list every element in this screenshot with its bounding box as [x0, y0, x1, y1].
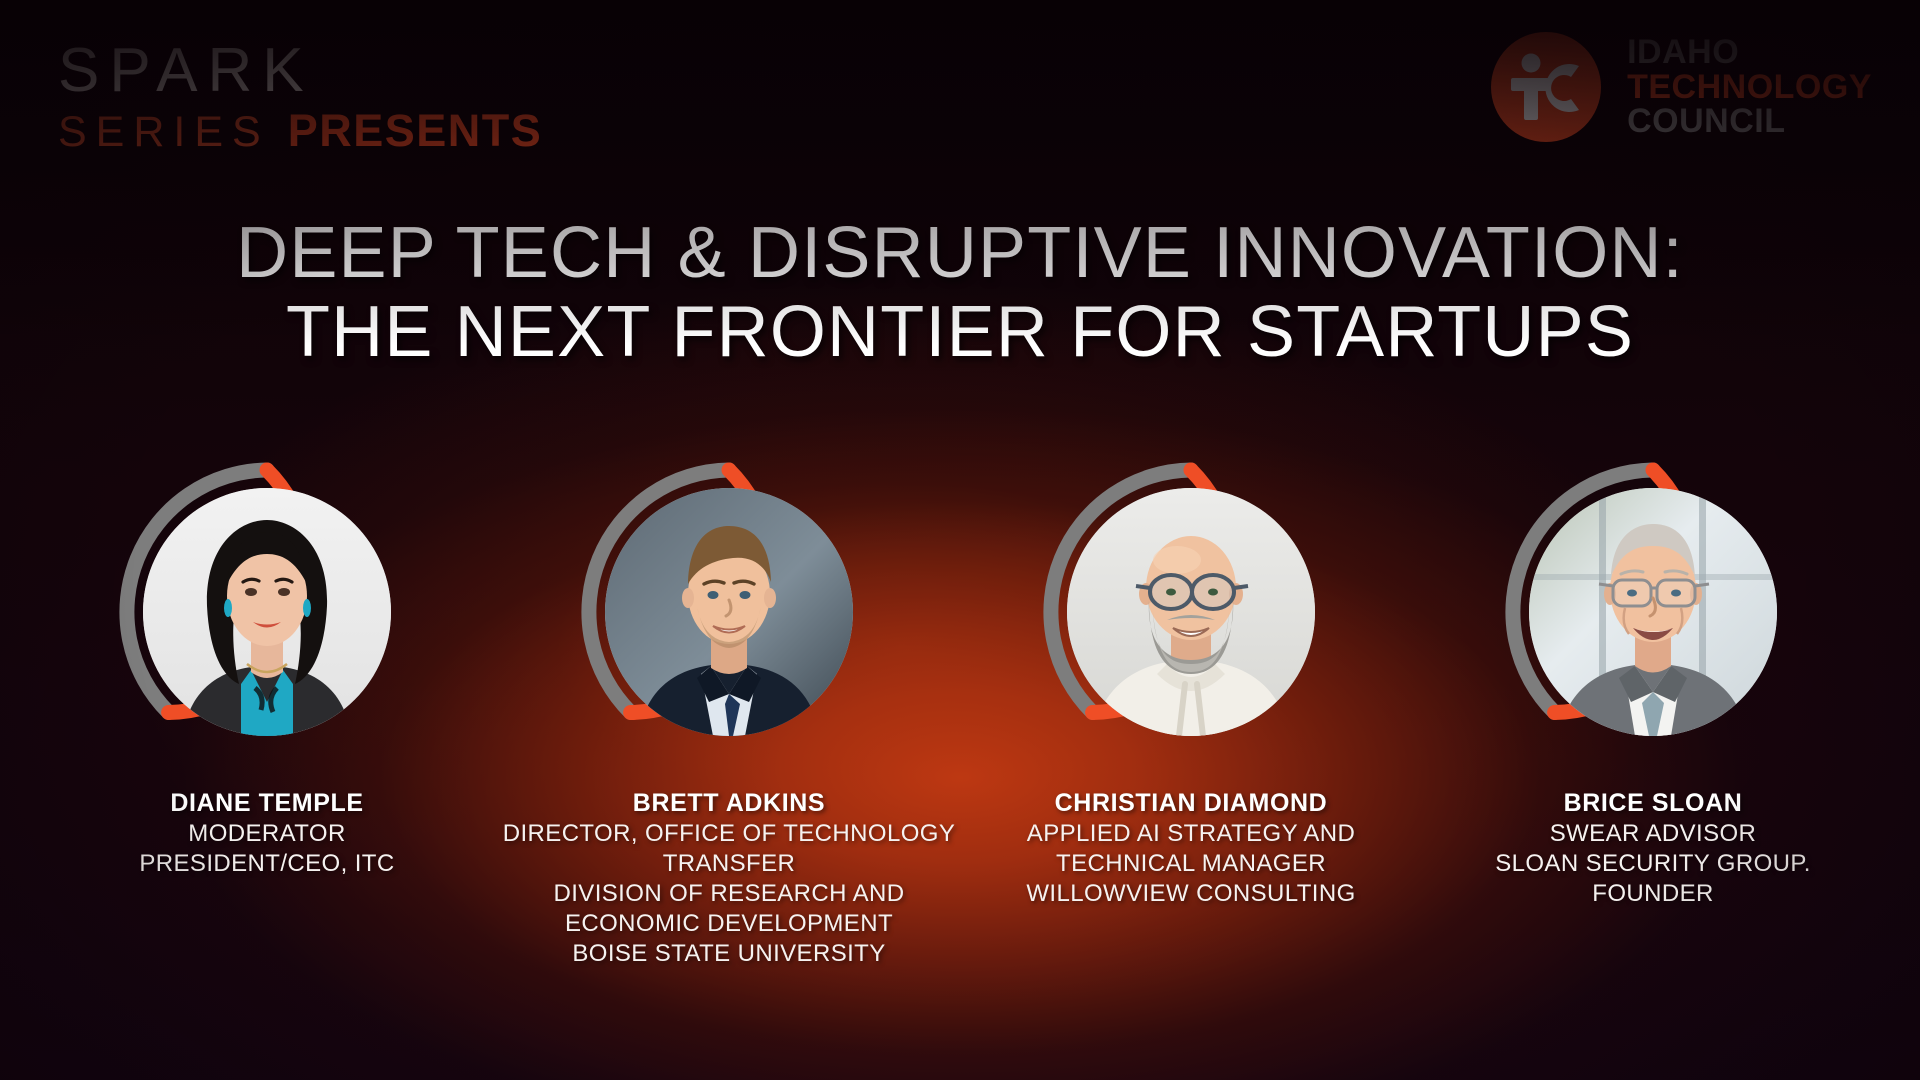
speaker-card: DIANE TEMPLE MODERATOR PRESIDENT/CEO, IT…	[67, 462, 467, 879]
speaker-photo	[605, 488, 853, 736]
speaker-detail-line: SWEAR ADVISOR	[1423, 819, 1883, 849]
title-line-1: DEEP TECH & DISRUPTIVE INNOVATION:	[0, 214, 1920, 293]
speaker-ring-frame	[1503, 462, 1803, 762]
speaker-detail-line: ECONOMIC DEVELOPMENT	[499, 909, 959, 939]
speaker-ring-frame	[579, 462, 879, 762]
page-title: DEEP TECH & DISRUPTIVE INNOVATION: THE N…	[0, 214, 1920, 372]
speaker-panel-list: DIANE TEMPLE MODERATOR PRESIDENT/CEO, IT…	[0, 462, 1920, 969]
itc-line-idaho: IDAHO	[1627, 35, 1872, 70]
speaker-info: CHRISTIAN DIAMOND APPLIED AI STRATEGY AN…	[961, 788, 1421, 909]
speaker-detail-line: APPLIED AI STRATEGY AND	[961, 819, 1421, 849]
itc-wordmark: IDAHO TECHNOLOGY COUNCIL	[1627, 35, 1872, 139]
speaker-info: BRICE SLOAN SWEAR ADVISOR SLOAN SECURITY…	[1423, 788, 1883, 909]
spark-subline: SERIES PRESENTS	[58, 108, 542, 154]
presentation-slide: SPARK SERIES PRESENTS IDAHO TECHNOLOGY C…	[0, 0, 1920, 1080]
speaker-name: BRETT ADKINS	[499, 788, 959, 819]
speaker-info: DIANE TEMPLE MODERATOR PRESIDENT/CEO, IT…	[37, 788, 497, 879]
title-line-2: THE NEXT FRONTIER FOR STARTUPS	[0, 293, 1920, 372]
speaker-photo	[143, 488, 391, 736]
speaker-name: BRICE SLOAN	[1423, 788, 1883, 819]
speaker-card: BRICE SLOAN SWEAR ADVISOR SLOAN SECURITY…	[1453, 462, 1853, 909]
speaker-detail-line: FOUNDER	[1423, 879, 1883, 909]
spark-series-lockup: SPARK SERIES PRESENTS	[58, 40, 542, 154]
spark-series-label: SERIES	[58, 111, 270, 154]
spark-presents-label: PRESENTS	[288, 108, 543, 153]
idaho-technology-council-logo: IDAHO TECHNOLOGY COUNCIL	[1491, 32, 1872, 142]
speaker-detail-line: WILLOWVIEW CONSULTING	[961, 879, 1421, 909]
speaker-name: DIANE TEMPLE	[37, 788, 497, 819]
speaker-card: CHRISTIAN DIAMOND APPLIED AI STRATEGY AN…	[991, 462, 1391, 909]
spark-wordmark: SPARK	[58, 40, 542, 102]
speaker-detail-line: TECHNICAL MANAGER	[961, 849, 1421, 879]
speaker-name: CHRISTIAN DIAMOND	[961, 788, 1421, 819]
speaker-detail-line: PRESIDENT/CEO, ITC	[37, 849, 497, 879]
itc-line-council: COUNCIL	[1627, 104, 1872, 139]
speaker-detail-line: SLOAN SECURITY GROUP.	[1423, 849, 1883, 879]
speaker-photo	[1529, 488, 1777, 736]
speaker-detail-line: BOISE STATE UNIVERSITY	[499, 939, 959, 969]
speaker-detail-line: DIRECTOR, OFFICE OF TECHNOLOGY	[499, 819, 959, 849]
speaker-info: BRETT ADKINS DIRECTOR, OFFICE OF TECHNOL…	[499, 788, 959, 969]
itc-monogram-icon	[1491, 32, 1601, 142]
speaker-ring-frame	[1041, 462, 1341, 762]
speaker-detail-line: TRANSFER	[499, 849, 959, 879]
speaker-photo	[1067, 488, 1315, 736]
itc-line-technology: TECHNOLOGY	[1627, 70, 1872, 105]
speaker-ring-frame	[117, 462, 417, 762]
speaker-detail-line: MODERATOR	[37, 819, 497, 849]
speaker-detail-line: DIVISION OF RESEARCH AND	[499, 879, 959, 909]
speaker-card: BRETT ADKINS DIRECTOR, OFFICE OF TECHNOL…	[529, 462, 929, 969]
